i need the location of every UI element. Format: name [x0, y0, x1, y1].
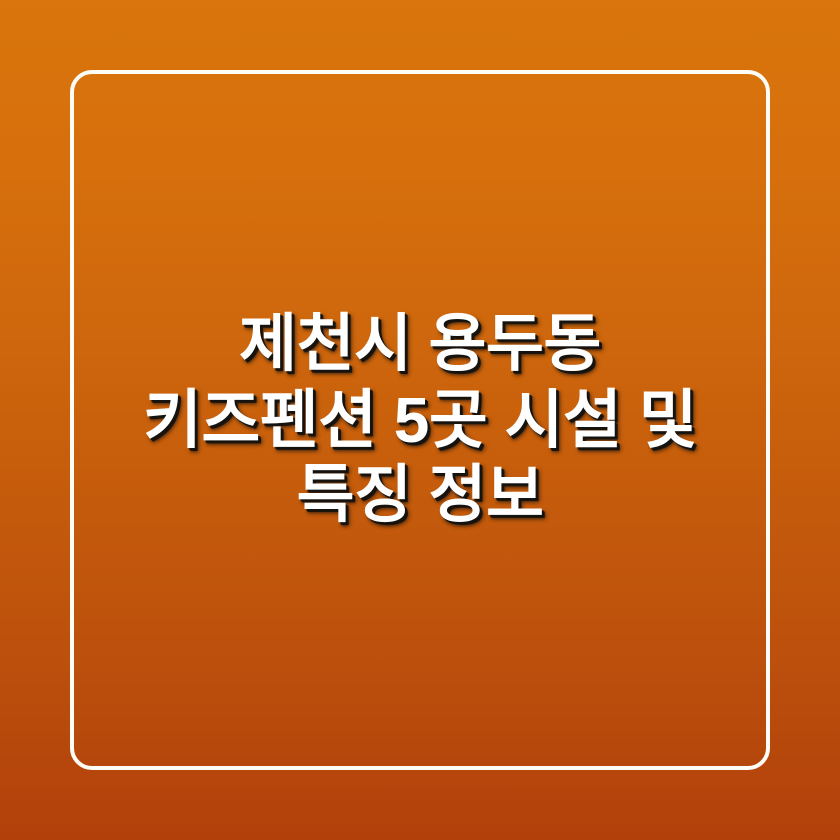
headline-line-2: 키즈펜션 5곳 시설 및 [78, 382, 762, 458]
headline-block: 제천시 용두동 키즈펜션 5곳 시설 및 특징 정보 [0, 307, 840, 533]
headline-line-1: 제천시 용두동 [78, 307, 762, 382]
thumbnail-card: 제천시 용두동 키즈펜션 5곳 시설 및 특징 정보 [0, 0, 840, 840]
headline-line-3: 특징 정보 [78, 458, 762, 533]
